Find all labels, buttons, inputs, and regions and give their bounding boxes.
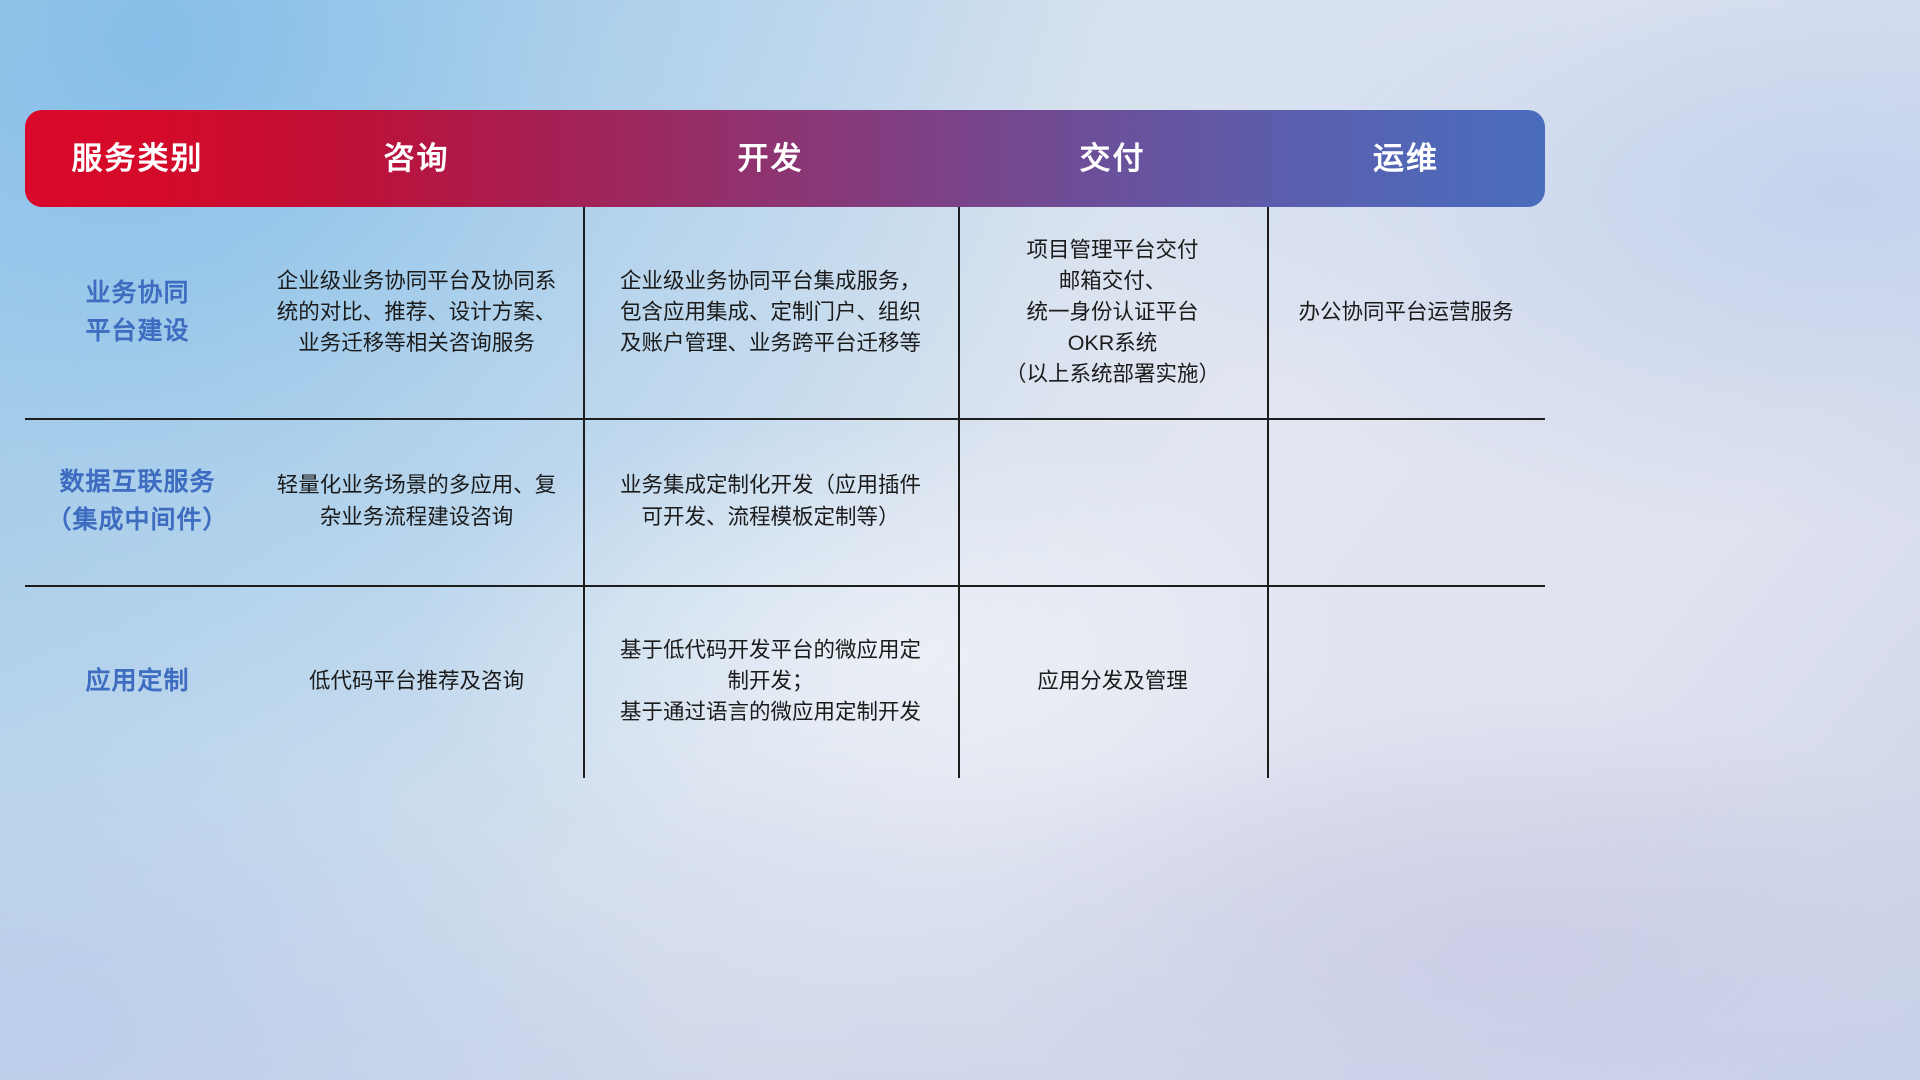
cell-operations xyxy=(1267,585,1545,778)
cell-development: 企业级业务协同平台集成服务， 包含应用集成、定制门户、组织 及账户管理、业务跨平… xyxy=(583,207,958,418)
table-row: 应用定制 低代码平台推荐及咨询 基于低代码开发平台的微应用定 制开发； 基于通过… xyxy=(25,585,1545,778)
row-label-business-collaboration: 业务协同 平台建设 xyxy=(25,207,250,418)
column-divider-delivery-operations xyxy=(1267,207,1269,778)
service-matrix-table: 服务类别 咨询 开发 交付 运维 业务协同 平台建设 企业级业务协同平台及协同系… xyxy=(25,110,1545,778)
column-header-category: 服务类别 xyxy=(25,110,250,207)
table-header-row: 服务类别 咨询 开发 交付 运维 xyxy=(25,110,1545,207)
cell-consulting: 轻量化业务场景的多应用、复 杂业务流程建设咨询 xyxy=(250,418,583,585)
cell-development: 基于低代码开发平台的微应用定 制开发； 基于通过语言的微应用定制开发 xyxy=(583,585,958,778)
row-label-app-customization: 应用定制 xyxy=(25,585,250,778)
column-divider-consulting-development xyxy=(583,207,585,778)
row-divider-1 xyxy=(25,418,1545,420)
table-row: 业务协同 平台建设 企业级业务协同平台及协同系 统的对比、推荐、设计方案、 业务… xyxy=(25,207,1545,418)
table-body: 业务协同 平台建设 企业级业务协同平台及协同系 统的对比、推荐、设计方案、 业务… xyxy=(25,207,1545,778)
table-row: 数据互联服务 （集成中间件） 轻量化业务场景的多应用、复 杂业务流程建设咨询 业… xyxy=(25,418,1545,585)
column-divider-development-delivery xyxy=(958,207,960,778)
row-label-data-interconnect: 数据互联服务 （集成中间件） xyxy=(25,418,250,585)
row-divider-2 xyxy=(25,585,1545,587)
cell-operations: 办公协同平台运营服务 xyxy=(1267,207,1545,418)
column-header-development: 开发 xyxy=(583,110,958,207)
cell-consulting: 企业级业务协同平台及协同系 统的对比、推荐、设计方案、 业务迁移等相关咨询服务 xyxy=(250,207,583,418)
cell-consulting: 低代码平台推荐及咨询 xyxy=(250,585,583,778)
column-header-delivery: 交付 xyxy=(958,110,1267,207)
cell-delivery: 项目管理平台交付 邮箱交付、 统一身份认证平台 OKR系统 （以上系统部署实施） xyxy=(958,207,1267,418)
cell-delivery xyxy=(958,418,1267,585)
cell-delivery: 应用分发及管理 xyxy=(958,585,1267,778)
cell-operations xyxy=(1267,418,1545,585)
column-header-consulting: 咨询 xyxy=(250,110,583,207)
column-header-operations: 运维 xyxy=(1267,110,1545,207)
cell-development: 业务集成定制化开发（应用插件 可开发、流程模板定制等） xyxy=(583,418,958,585)
